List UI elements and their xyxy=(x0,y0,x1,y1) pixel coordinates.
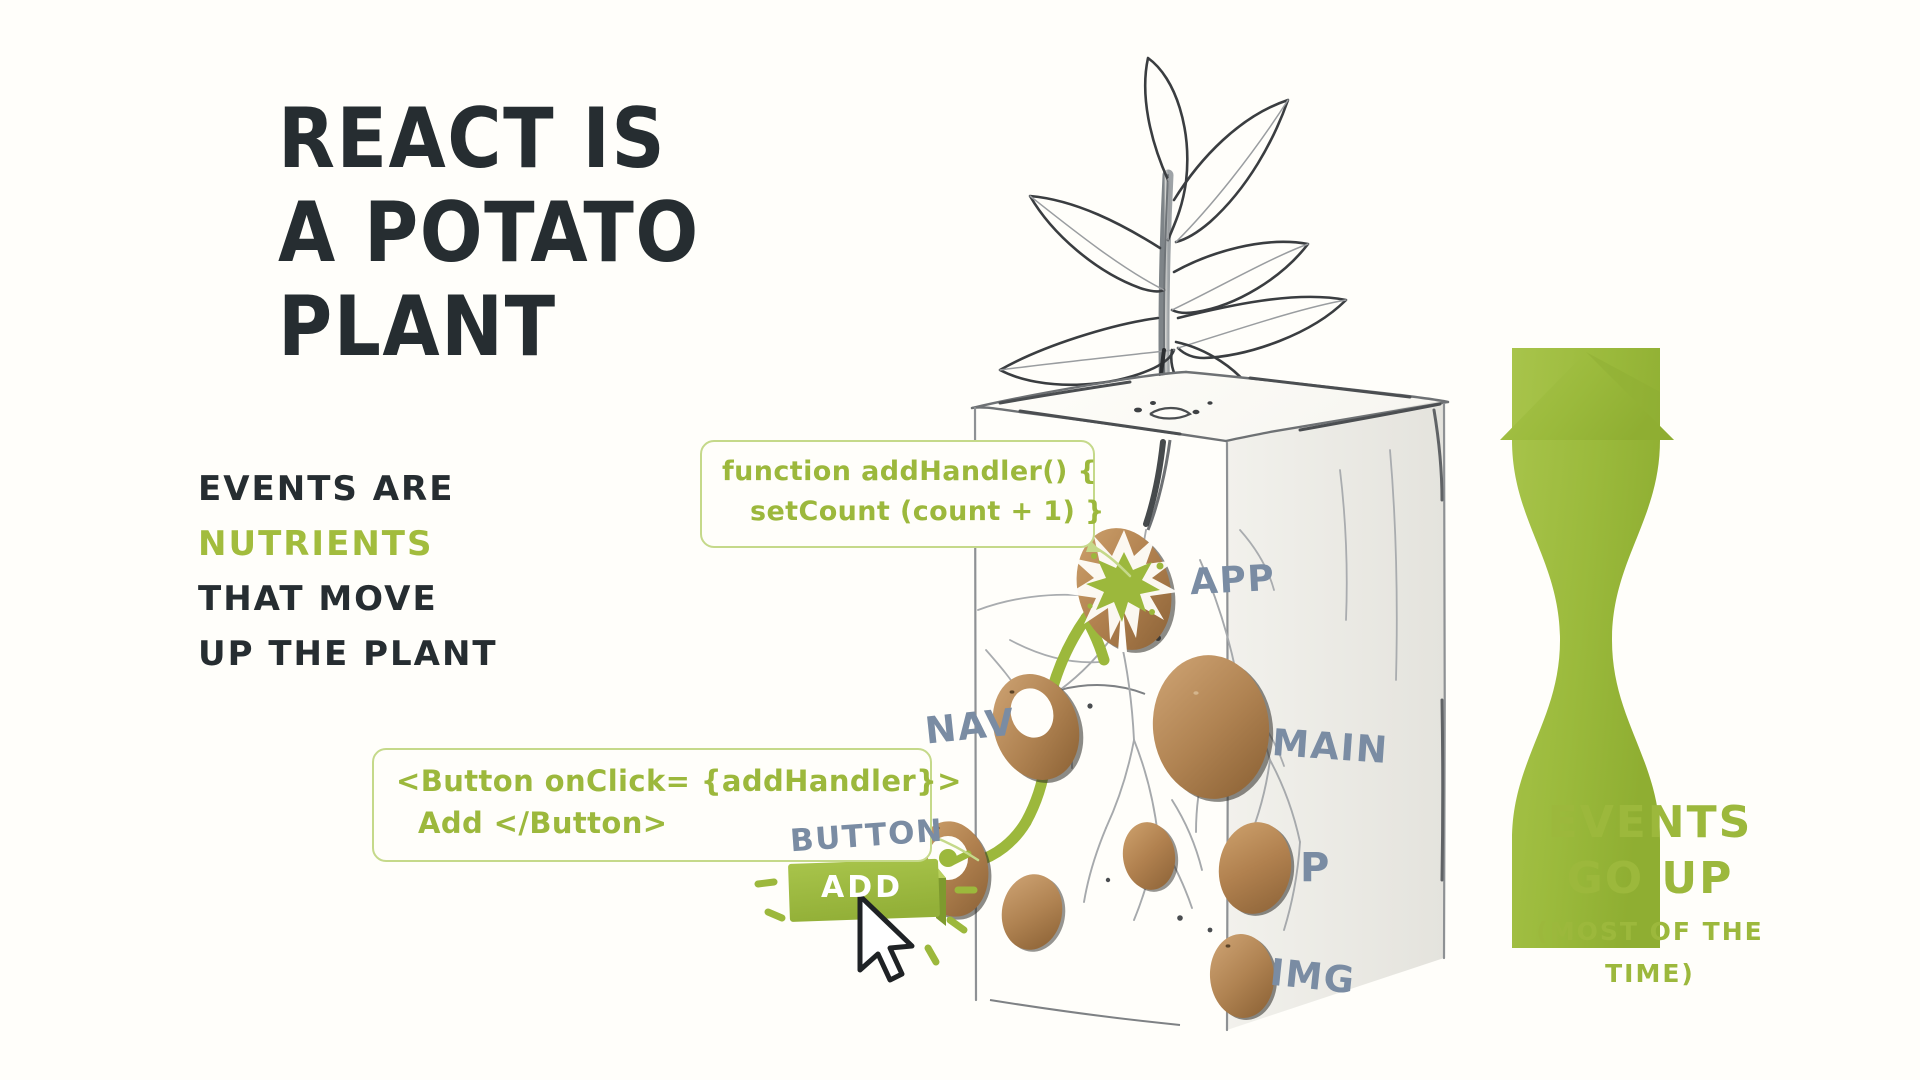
page-title: REACT IS A POTATO PLANT xyxy=(278,92,838,374)
node-label-main: MAIN xyxy=(1271,721,1390,772)
events-line-2: GO UP xyxy=(1490,851,1810,907)
subtitle-line-3: THAT MOVE xyxy=(198,572,628,627)
code-callout-addhandler: function addHandler() { setCount (count … xyxy=(700,440,1095,548)
events-go-up-caption: EVENTS GO UP (MOST OF THE TIME) xyxy=(1490,795,1810,991)
title-line-3: PLANT xyxy=(278,280,838,374)
node-label-img: IMG xyxy=(1268,951,1358,1003)
events-line-1: EVENTS xyxy=(1490,795,1810,851)
title-line-1: REACT IS xyxy=(278,92,838,186)
events-line-3: (MOST OF THE xyxy=(1490,915,1810,949)
subtitle-line-1: EVENTS ARE xyxy=(198,462,628,517)
subtitle-line-2-nutrients: NUTRIENTS xyxy=(198,517,628,572)
code-handler-line-1: function addHandler() { xyxy=(722,452,1077,492)
code-handler-line-2: setCount (count + 1) } xyxy=(722,492,1077,532)
title-line-2: A POTATO xyxy=(278,186,838,280)
subtitle-block: EVENTS ARE NUTRIENTS THAT MOVE UP THE PL… xyxy=(198,462,628,682)
add-button-wrapper[interactable]: ADD xyxy=(788,860,958,940)
plant-sketch-icon xyxy=(1000,58,1346,405)
add-button-label: ADD xyxy=(788,860,936,916)
code-button-line-1: <Button onClick= {addHandler}> xyxy=(396,760,914,802)
events-line-4: TIME) xyxy=(1490,957,1810,991)
node-label-p: P xyxy=(1300,845,1331,891)
illustration-canvas: REACT IS A POTATO PLANT EVENTS ARE NUTRI… xyxy=(0,0,1920,1080)
node-label-app: APP xyxy=(1189,558,1276,603)
subtitle-line-4: UP THE PLANT xyxy=(198,627,628,682)
